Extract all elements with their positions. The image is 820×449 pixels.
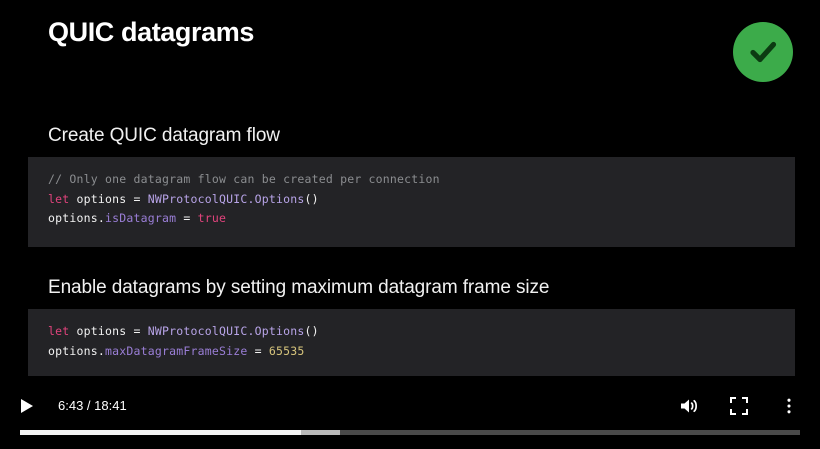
checkmark-icon	[746, 35, 780, 69]
progress-played	[20, 430, 301, 435]
code-token-comment: // Only one datagram flow can be created…	[48, 172, 440, 186]
code-token-plain: options.	[48, 211, 105, 225]
code-token-plain: options =	[69, 324, 147, 338]
code-token-plain: =	[247, 344, 268, 358]
code-token-keyword: true	[198, 211, 227, 225]
section-heading-enable-datagrams: Enable datagrams by setting maximum data…	[48, 276, 549, 300]
video-player: QUIC datagrams Create QUIC datagram flow…	[0, 0, 820, 449]
code-line: let options = NWProtocolQUIC.Options()	[28, 322, 795, 342]
more-options-button[interactable]	[772, 389, 806, 423]
play-button[interactable]	[12, 391, 42, 421]
code-block-enable-datagrams: let options = NWProtocolQUIC.Options() o…	[28, 309, 795, 376]
code-token-type: NWProtocolQUIC.Options	[148, 324, 305, 338]
code-block-create-flow: // Only one datagram flow can be created…	[28, 157, 795, 247]
volume-icon	[678, 395, 700, 417]
volume-button[interactable]	[672, 389, 706, 423]
section-heading-create-flow: Create QUIC datagram flow	[48, 124, 280, 148]
code-token-property: maxDatagramFrameSize	[105, 344, 247, 358]
code-line: options.isDatagram = true	[28, 209, 795, 229]
play-icon	[20, 398, 34, 414]
code-token-plain: ()	[304, 192, 318, 206]
code-token-plain: ()	[304, 324, 318, 338]
status-badge	[733, 22, 793, 82]
code-line: options.maxDatagramFrameSize = 65535	[28, 342, 795, 362]
progress-bar[interactable]	[20, 430, 800, 435]
code-line: let options = NWProtocolQUIC.Options()	[28, 190, 795, 210]
code-line: // Only one datagram flow can be created…	[28, 170, 795, 190]
slide-content: QUIC datagrams Create QUIC datagram flow…	[0, 0, 820, 449]
fullscreen-icon	[729, 396, 749, 416]
code-token-plain: options.	[48, 344, 105, 358]
code-token-plain: =	[176, 211, 197, 225]
fullscreen-button[interactable]	[722, 389, 756, 423]
code-token-property: isDatagram	[105, 211, 176, 225]
code-token-keyword: let	[48, 192, 69, 206]
player-controls: 6:43 / 18:41	[0, 385, 820, 449]
page-title: QUIC datagrams	[48, 15, 254, 49]
code-token-keyword: let	[48, 324, 69, 338]
time-display: 6:43 / 18:41	[58, 399, 127, 412]
code-token-number: 65535	[269, 344, 305, 358]
code-token-type: NWProtocolQUIC.Options	[148, 192, 305, 206]
code-token-plain: options =	[69, 192, 147, 206]
controls-row: 6:43 / 18:41	[0, 385, 820, 426]
more-vertical-icon	[780, 397, 798, 415]
